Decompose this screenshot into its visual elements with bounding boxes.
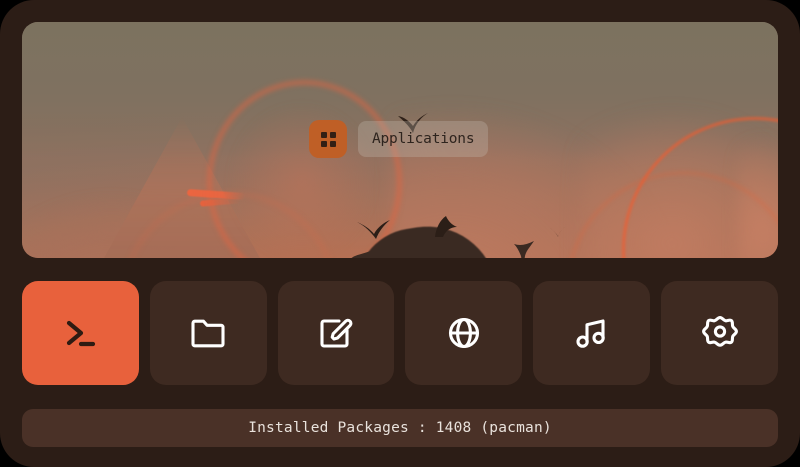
bird-silhouette-icon (357, 220, 391, 240)
bird-silhouette-icon (550, 227, 566, 237)
folder-icon (185, 310, 231, 356)
installed-packages-status: Installed Packages : 1408 (pacman) (248, 420, 552, 436)
wallpaper-dune-far-right (737, 122, 778, 258)
edit-icon (313, 310, 359, 356)
globe-icon (441, 310, 487, 356)
dock-item-files[interactable] (150, 281, 267, 385)
wallpaper-arc-low (122, 192, 338, 258)
wallpaper-arc-right (622, 117, 778, 258)
desktop-shell: Applications (0, 0, 800, 467)
dock-item-browser[interactable] (405, 281, 522, 385)
applications-tooltip-label: Applications (372, 131, 474, 147)
applications-grid-button[interactable] (309, 120, 347, 158)
wallpaper-orange-streak-2 (200, 197, 240, 206)
music-note-icon (569, 310, 615, 356)
gear-icon (697, 310, 743, 356)
wallpaper-dune-mid (77, 117, 287, 258)
grid-2x2-icon (321, 132, 336, 147)
applications-tooltip: Applications (358, 121, 488, 157)
status-bar: Installed Packages : 1408 (pacman) (22, 409, 778, 447)
wallpaper-dune-right-2 (582, 82, 778, 258)
wallpaper-arc-right-2 (567, 172, 778, 258)
applications-launcher[interactable]: Applications (309, 120, 488, 158)
wallpaper-orange-streak (187, 189, 245, 200)
terminal-icon (57, 310, 103, 356)
dock (22, 281, 778, 385)
bird-silhouette-icon (432, 216, 458, 238)
dock-item-editor[interactable] (278, 281, 395, 385)
dock-item-terminal[interactable] (22, 281, 139, 385)
dock-item-music[interactable] (533, 281, 650, 385)
bird-silhouette-icon (512, 240, 536, 258)
wallpaper-dune-left (22, 117, 262, 258)
dock-item-settings[interactable] (661, 281, 778, 385)
